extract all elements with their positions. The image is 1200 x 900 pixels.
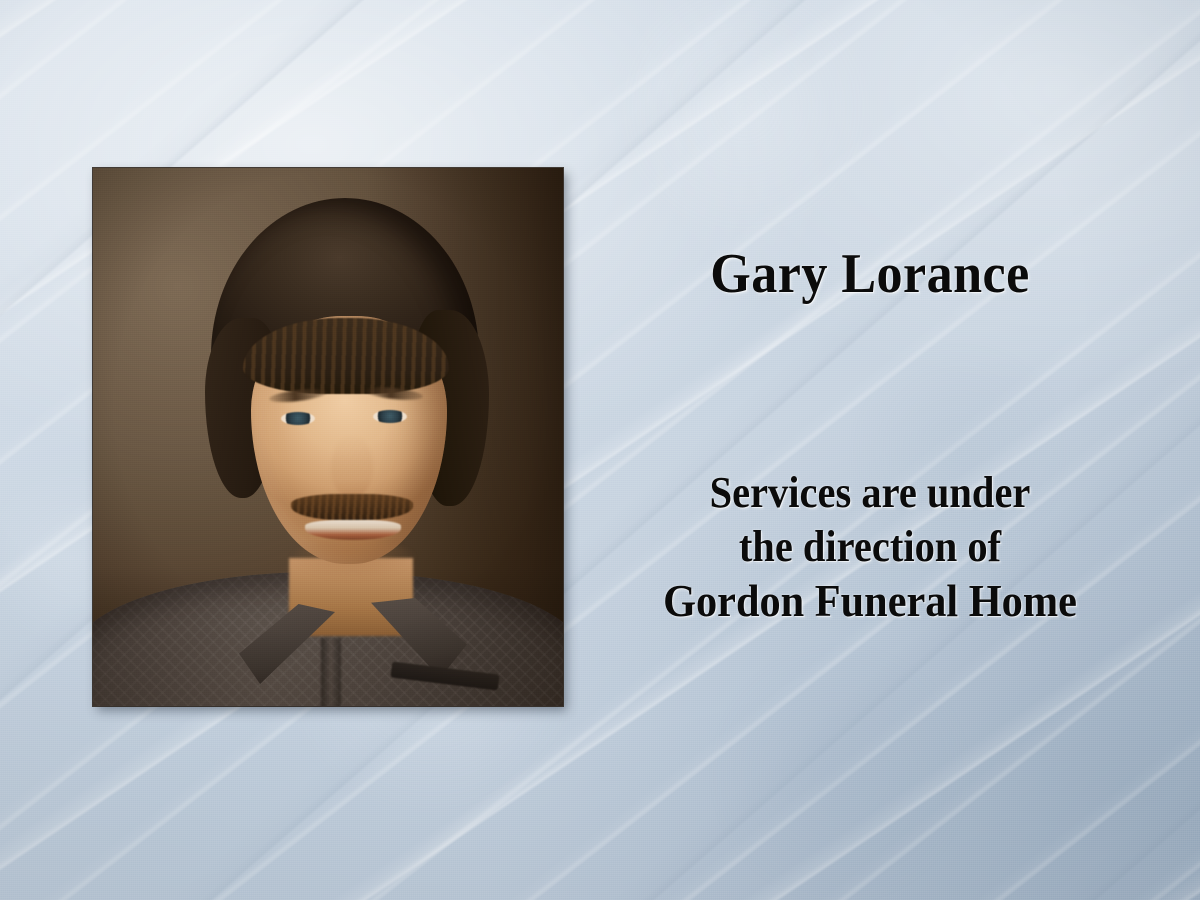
portrait-photo-canvas (93, 168, 563, 706)
portrait-photo (93, 168, 563, 706)
memorial-card: Gary Lorance Services are under the dire… (0, 0, 1200, 900)
deceased-name: Gary Lorance (619, 246, 1121, 302)
text-block: Gary Lorance Services are under the dire… (600, 0, 1140, 900)
service-line-2: the direction of (622, 520, 1119, 574)
service-line-3: Gordon Funeral Home (622, 574, 1119, 628)
photo-grain (93, 168, 563, 706)
service-announcement: Services are under the direction of Gord… (600, 466, 1140, 628)
service-line-1: Services are under (622, 466, 1119, 520)
